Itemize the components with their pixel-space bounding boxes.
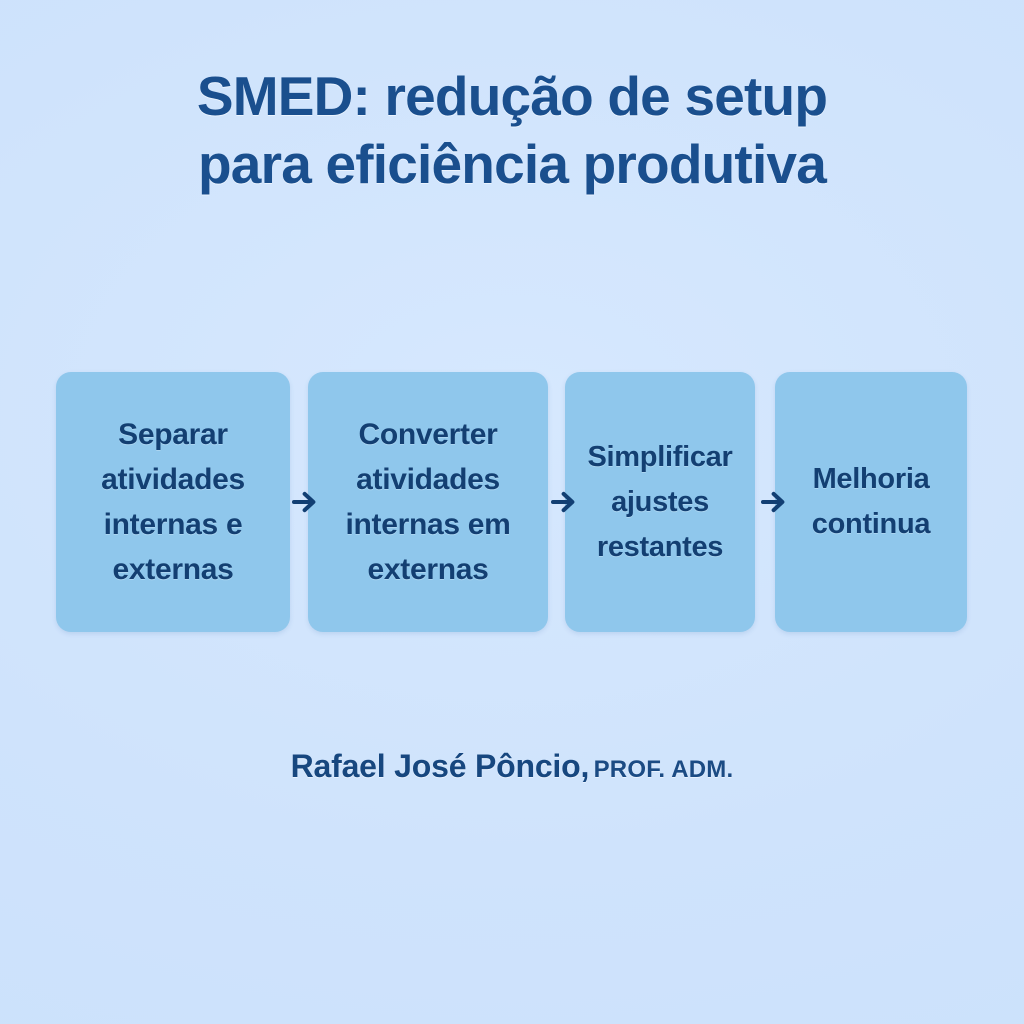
flow-step-1-label: Separar atividades internas e externas <box>64 412 282 592</box>
smed-infographic-slide: SMED: redução de setup para eficiência p… <box>0 0 1024 1024</box>
page-title: SMED: redução de setup para eficiência p… <box>0 62 1024 198</box>
flow-step-1: Separar atividades internas e externas <box>56 372 290 632</box>
flow-step-2-label: Converter atividades internas em externa… <box>316 412 540 592</box>
flow-step-4-label: Melhoria continua <box>783 457 959 547</box>
flow-step-3-label: Simplificar ajustes restantes <box>573 435 747 570</box>
flow-step-3: Simplificar ajustes restantes <box>565 372 755 632</box>
flow-step-2: Converter atividades internas em externa… <box>308 372 548 632</box>
author-credit: Rafael José Pôncio, PROF. ADM. <box>0 748 1024 785</box>
flow-step-4: Melhoria continua <box>775 372 967 632</box>
page-title-line-2: para eficiência produtiva <box>40 130 984 198</box>
author-role: PROF. ADM. <box>594 756 734 783</box>
page-title-line-1: SMED: redução de setup <box>40 62 984 130</box>
arrow-right-icon <box>546 482 580 522</box>
arrow-right-icon <box>756 482 790 522</box>
author-name: Rafael José Pôncio, <box>291 748 590 784</box>
arrow-right-icon <box>287 482 321 522</box>
smed-process-flow: Separar atividades internas e externas C… <box>56 372 968 632</box>
